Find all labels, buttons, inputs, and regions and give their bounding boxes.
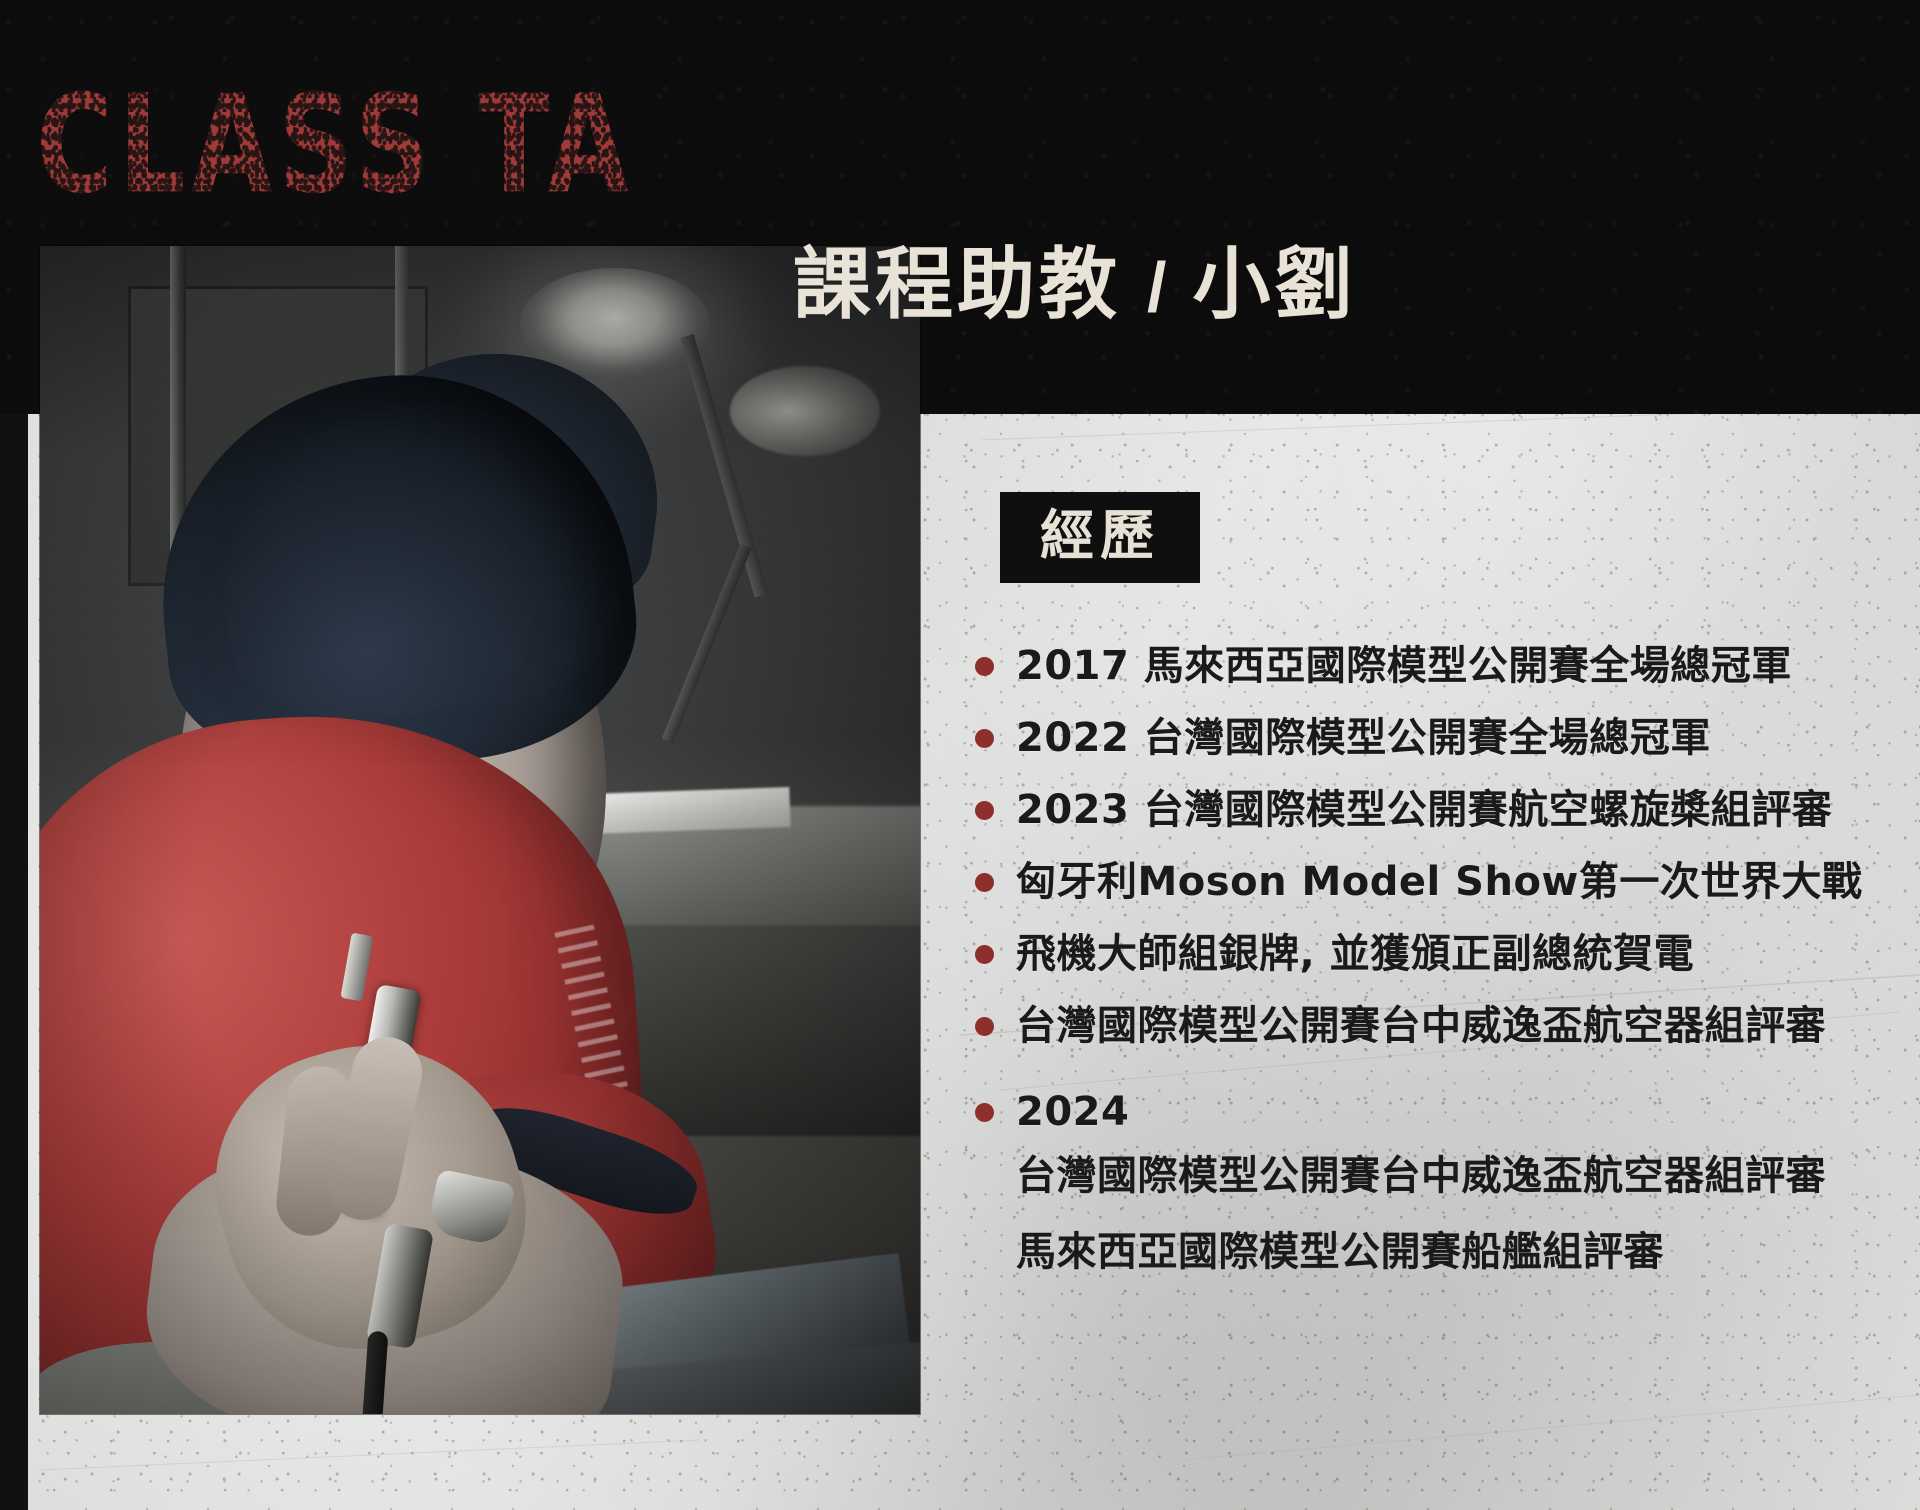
list-item-2024-year: 2024 bbox=[975, 1086, 1895, 1138]
page-title-person: 小劉 bbox=[1192, 222, 1356, 334]
instructor-photo bbox=[40, 246, 920, 1414]
bullet-icon bbox=[975, 1017, 994, 1036]
list-item-label: 飛機大師組銀牌, 並獲頒正副總統賀電 bbox=[1016, 928, 1694, 980]
list-item-2024-line-2: 馬來西亞國際模型公開賽船艦組評審 bbox=[1016, 1226, 1895, 1278]
page-title-separator: / bbox=[1143, 247, 1170, 327]
experience-list: 2017 馬來西亞國際模型公開賽全場總冠軍 2022 台灣國際模型公開賽全場總冠… bbox=[975, 640, 1895, 1278]
bullet-icon bbox=[975, 945, 994, 964]
list-item-label: 台灣國際模型公開賽台中威逸盃航空器組評審 bbox=[1016, 1000, 1826, 1052]
page-title: 課程助教 / 小劉 bbox=[793, 222, 1356, 334]
list-item-label: 2023 台灣國際模型公開賽航空螺旋槳組評審 bbox=[1016, 784, 1832, 836]
list-item: 2022 台灣國際模型公開賽全場總冠軍 bbox=[975, 712, 1895, 764]
list-item: 台灣國際模型公開賽台中威逸盃航空器組評審 bbox=[975, 1000, 1895, 1052]
bullet-icon bbox=[975, 873, 994, 892]
list-item-label: 2017 馬來西亞國際模型公開賽全場總冠軍 bbox=[1016, 640, 1792, 692]
list-item-label: 匈牙利Moson Model Show第一次世界大戰 bbox=[1016, 856, 1862, 908]
list-item: 2017 馬來西亞國際模型公開賽全場總冠軍 bbox=[975, 640, 1895, 692]
list-item-label: 2024 bbox=[1016, 1086, 1129, 1138]
class-ta-kicker: CLASS TA bbox=[36, 78, 634, 214]
photo-inner bbox=[40, 246, 920, 1414]
list-item: 飛機大師組銀牌, 並獲頒正副總統賀電 bbox=[975, 928, 1895, 980]
bullet-icon bbox=[975, 657, 994, 676]
list-item-label: 2022 台灣國際模型公開賽全場總冠軍 bbox=[1016, 712, 1711, 764]
list-item: 匈牙利Moson Model Show第一次世界大戰 bbox=[975, 856, 1895, 908]
list-item: 2023 台灣國際模型公開賽航空螺旋槳組評審 bbox=[975, 784, 1895, 836]
photo-vignette bbox=[40, 246, 920, 1414]
slide-root: CLASS TA bbox=[0, 0, 1920, 1510]
bullet-icon bbox=[975, 1103, 994, 1122]
bullet-icon bbox=[975, 801, 994, 820]
list-item-2024-line-1: 台灣國際模型公開賽台中威逸盃航空器組評審 bbox=[1016, 1150, 1895, 1202]
bullet-icon bbox=[975, 729, 994, 748]
page-title-role: 課程助教 bbox=[793, 245, 1121, 327]
experience-section-badge: 經歷 bbox=[1000, 492, 1200, 583]
